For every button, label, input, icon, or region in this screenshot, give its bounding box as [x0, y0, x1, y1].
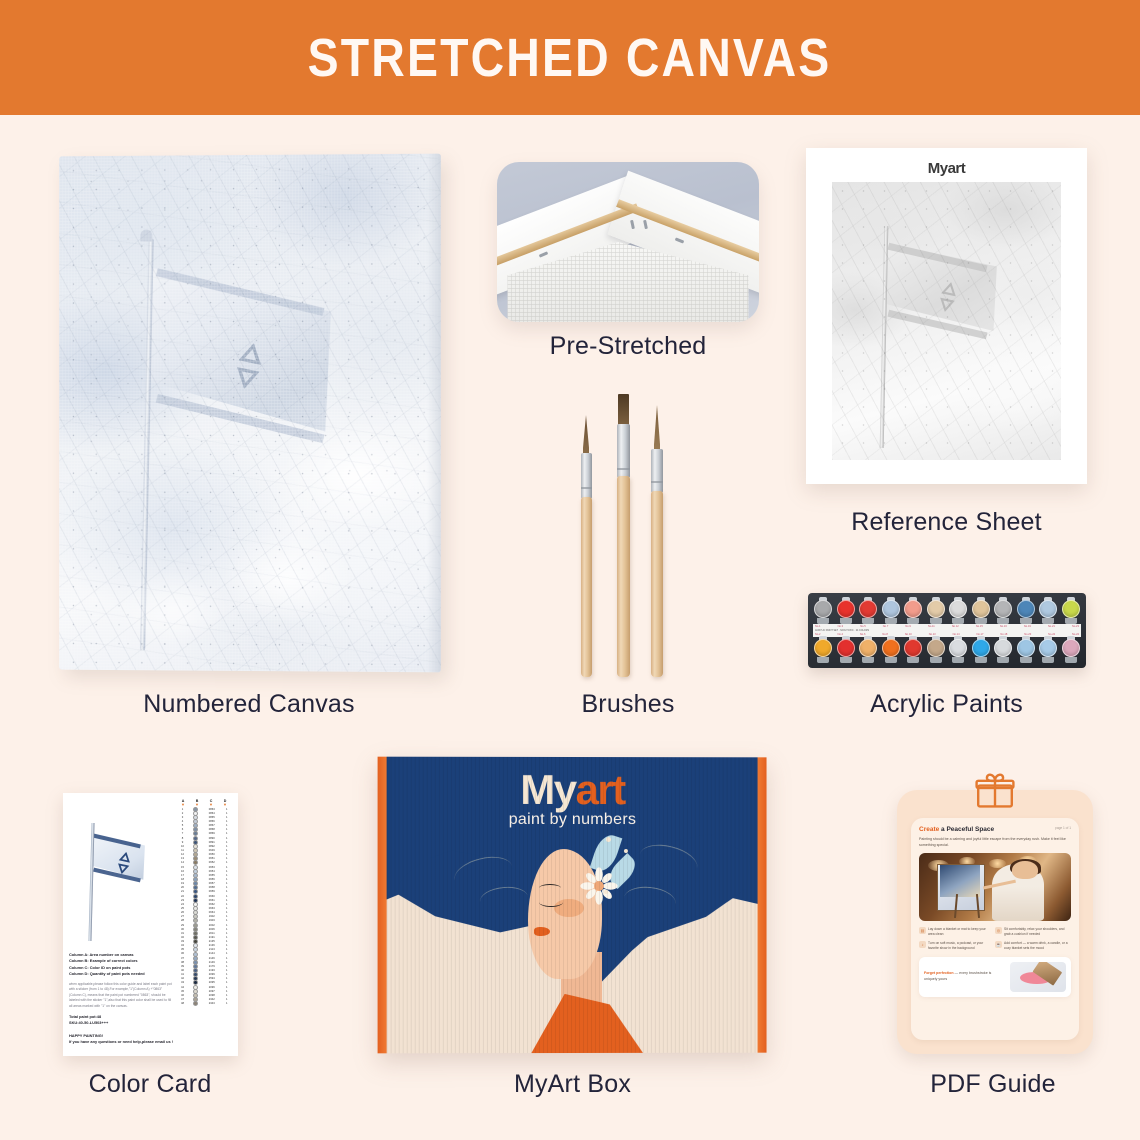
cell-quantity: 1 [222, 895, 232, 898]
cell-area-number: 27 [176, 915, 189, 918]
color-table-row: 4723421 [176, 997, 232, 1001]
paint-pot-lid [859, 600, 877, 618]
color-table-row: 2606641 [176, 911, 232, 915]
color-table-row: 3321351 [176, 940, 232, 944]
pre-stretched-image [497, 162, 759, 322]
brushes-image [573, 385, 685, 677]
cell-quantity: 1 [222, 961, 232, 964]
paint-row-top [813, 598, 1081, 624]
cell-area-number: 8 [176, 837, 189, 840]
cell-quantity: 1 [222, 998, 232, 1001]
paint-pot-lid [1039, 600, 1057, 618]
cell-color-id: 2136 [202, 944, 222, 947]
color-table-row: 4320951 [176, 981, 232, 985]
paint-pot [971, 637, 991, 663]
paint-pot [813, 637, 833, 663]
color-card-note: when applicable,please follow this color… [69, 982, 173, 1010]
color-table-row: 3221911 [176, 935, 232, 939]
page-title: STRETCHED CANVAS [308, 27, 832, 89]
cell-color-id: 2135 [202, 940, 222, 943]
cell-color-id: 0659 [202, 890, 222, 893]
cell-quantity: 1 [222, 944, 232, 947]
paint-pot [1038, 637, 1058, 663]
cell-quantity: 1 [222, 857, 232, 860]
cell-quantity: 1 [222, 832, 232, 835]
cell-color-id: 2179 [202, 965, 222, 968]
cell-quantity: 1 [222, 965, 232, 968]
label-pdf-guide: PDF Guide [893, 1070, 1093, 1099]
paint-pot-lid [837, 600, 855, 618]
cell-color-id: 0864 [202, 812, 222, 815]
cell-color-id: 2113 [202, 948, 222, 951]
cell-quantity: 1 [222, 861, 232, 864]
paint-pot [858, 637, 878, 663]
box-front-panel: Myart paint by numbers [387, 757, 758, 1054]
cell-area-number: 37 [176, 957, 189, 960]
pdf-guide-title: page 1 of 1 Create a Peaceful Space [919, 826, 1071, 833]
paint-pot-base [907, 657, 919, 663]
cc-flag-pole [88, 823, 94, 941]
paint-pot-lid [972, 600, 990, 618]
cell-color-id: 0866 [202, 820, 222, 823]
cell-quantity: 1 [222, 882, 232, 885]
cell-quantity: 1 [222, 828, 232, 831]
pdf-guide-callout: Forget perfection — every brushstroke is… [919, 957, 1071, 997]
cell-area-number: 43 [176, 981, 189, 984]
brush-bristles [618, 394, 629, 426]
cell-area-number: 45 [176, 990, 189, 993]
cell-quantity: 1 [222, 878, 232, 881]
cell-area-number: 5 [176, 824, 189, 827]
cell-color-id: 0660 [202, 895, 222, 898]
cell-color-id: 2343 [202, 1002, 222, 1005]
legend-column-d: Column D: Quantity of paint pots needed [69, 971, 145, 976]
color-table-row: 1706551 [176, 873, 232, 877]
cell-color-id: 2097 [202, 990, 222, 993]
label-brushes: Brushes [497, 690, 759, 719]
color-table-row: 708691 [176, 832, 232, 836]
brush-ferrule [651, 449, 663, 493]
cell-area-number: 10 [176, 845, 189, 848]
cell-quantity: 1 [222, 1002, 232, 1005]
reference-sheet-artwork [832, 182, 1061, 460]
paint-pot [881, 637, 901, 663]
cell-quantity: 1 [222, 816, 232, 819]
cell-quantity: 1 [222, 890, 232, 893]
pdf-guide-photo [919, 853, 1071, 921]
cell-quantity: 1 [222, 948, 232, 951]
color-table-row: 808901 [176, 836, 232, 840]
pdf-guide-image: page 1 of 1 Create a Peaceful Space Pain… [897, 790, 1093, 1054]
box-left-edge [378, 757, 387, 1054]
color-table-row: 2920021 [176, 923, 232, 927]
paint-pot-base [885, 657, 897, 663]
color-table-row: 608681 [176, 828, 232, 832]
cell-color-id: 0655 [202, 874, 222, 877]
color-table-row: 1306511 [176, 857, 232, 861]
pdf-title-accent: Create [919, 826, 939, 833]
brush-handle [581, 497, 592, 677]
cell-quantity: 1 [222, 824, 232, 827]
arrow-down-icon: ▼ [218, 803, 232, 807]
paint-pot-lid [949, 639, 967, 657]
cell-area-number: 9 [176, 841, 189, 844]
cell-quantity: 1 [222, 899, 232, 902]
cell-color-id: 0651 [202, 857, 222, 860]
paint-pot-lid [1017, 639, 1035, 657]
contact-text: If you have any questions or need help,p… [69, 1039, 173, 1044]
paint-pot [836, 598, 856, 624]
cell-quantity: 1 [222, 936, 232, 939]
pdf-tip-item: ☕Add comfort — a warm drink, a candle, o… [995, 941, 1071, 951]
cell-area-number: 15 [176, 866, 189, 869]
color-table-row: 4120991 [176, 973, 232, 977]
color-table-row: 3421361 [176, 944, 232, 948]
cell-color-id: 1903 [202, 919, 222, 922]
ref-numeral-layer [832, 182, 1061, 460]
cell-area-number: 16 [176, 870, 189, 873]
brush-ferrule-ring [617, 468, 630, 470]
cell-area-number: 24 [176, 903, 189, 906]
brush-flat [617, 394, 630, 677]
color-table-row: 1406521 [176, 861, 232, 865]
cell-quantity: 1 [222, 919, 232, 922]
cell-color-id: 2146 [202, 957, 222, 960]
cell-color-id: 0663 [202, 907, 222, 910]
cell-area-number: 28 [176, 919, 189, 922]
cell-color-id: 0868 [202, 828, 222, 831]
cell-color-id: 2095 [202, 981, 222, 984]
color-table-row: 4620981 [176, 993, 232, 997]
paint-pot-base [1042, 657, 1054, 663]
color-table-row: 1606541 [176, 869, 232, 873]
callout-image [1010, 962, 1066, 992]
paint-pot-base [997, 657, 1009, 663]
color-table-row: 508671 [176, 824, 232, 828]
cell-quantity: 1 [222, 808, 232, 811]
paint-pot-lid [859, 639, 877, 657]
cell-quantity: 1 [222, 845, 232, 848]
total-paint-pots: Total paint pot:48 [69, 1014, 101, 1019]
cell-color-id: 2149 [202, 961, 222, 964]
cell-quantity: 1 [222, 907, 232, 910]
paint-pot-lid [1062, 600, 1080, 618]
cell-area-number: 42 [176, 977, 189, 980]
brush-handle [617, 476, 630, 677]
color-table-row: 4420961 [176, 985, 232, 989]
color-table-row: 2306611 [176, 898, 232, 902]
paint-pot-lid [927, 639, 945, 657]
pdf-tip-item: ◎Sit comfortably, relax your shoulders, … [995, 927, 1071, 937]
cell-color-id: 2098 [202, 994, 222, 997]
photo-person-head [1012, 861, 1038, 879]
label-reference-sheet: Reference Sheet [806, 508, 1087, 537]
paint-pot [948, 598, 968, 624]
paint-pot-lid [994, 639, 1012, 657]
cell-area-number: 33 [176, 940, 189, 943]
cell-color-id: 0656 [202, 878, 222, 881]
brush-ferrule [581, 453, 592, 499]
cell-color-id: 0649 [202, 849, 222, 852]
paint-pot-lid [949, 600, 967, 618]
paint-row-bottom [813, 637, 1081, 663]
paint-pot [1061, 637, 1081, 663]
box-cardboard-texture [387, 757, 758, 1054]
color-table-row: 2206601 [176, 894, 232, 898]
cell-area-number: 32 [176, 936, 189, 939]
paint-pot-lid [904, 600, 922, 618]
cell-color-id: 2342 [202, 998, 222, 1001]
cell-area-number: 21 [176, 890, 189, 893]
paint-pot [926, 637, 946, 663]
color-table-row: 108631 [176, 807, 232, 811]
cell-color-id: 0891 [202, 841, 222, 844]
paint-pot-base [952, 657, 964, 663]
cell-quantity: 1 [222, 820, 232, 823]
canvas-body [59, 154, 441, 673]
color-table-row: 2819031 [176, 919, 232, 923]
paint-pot-base [862, 657, 874, 663]
paint-pot-lid [972, 639, 990, 657]
cell-color-id: 0653 [202, 866, 222, 869]
color-table-row: 3621441 [176, 952, 232, 956]
cell-area-number: 18 [176, 878, 189, 881]
pdf-page-number: page 1 of 1 [1055, 826, 1071, 830]
cell-area-number: 4 [176, 820, 189, 823]
cell-quantity: 1 [222, 986, 232, 989]
cell-color-id: 0652 [202, 861, 222, 864]
cell-color-id: 2144 [202, 952, 222, 955]
label-acrylic-paints: Acrylic Paints [806, 690, 1087, 719]
legend-column-b: Column B: Example of correct colors [69, 958, 138, 963]
color-table-row: 4520971 [176, 989, 232, 993]
brush-round-thin [581, 415, 592, 677]
paint-pot-base [975, 657, 987, 663]
cell-area-number: 23 [176, 899, 189, 902]
cell-color-id: 2099 [202, 973, 222, 976]
cell-quantity: 1 [222, 837, 232, 840]
cell-color-id: 0664 [202, 911, 222, 914]
cell-quantity: 1 [222, 812, 232, 815]
label-numbered-canvas: Numbered Canvas [58, 690, 440, 719]
paint-pot-lid [882, 639, 900, 657]
color-table-row: 3921791 [176, 964, 232, 968]
color-table-row: 1008921 [176, 844, 232, 848]
happy-painting-text: HAPPY PAINTING! [69, 1033, 103, 1038]
cell-color-id: 0892 [202, 845, 222, 848]
cell-area-number: 11 [176, 849, 189, 852]
paint-pot [903, 637, 923, 663]
cell-area-number: 17 [176, 874, 189, 877]
paint-pot [1016, 637, 1036, 663]
pdf-tip-icon: ◎ [995, 927, 1002, 934]
brush-round-fine [651, 405, 663, 677]
color-table-row: 3020061 [176, 927, 232, 931]
pdf-title-rest: a Peaceful Space [939, 826, 994, 833]
paint-pot-lid [994, 600, 1012, 618]
paint-pot [1061, 598, 1081, 624]
color-table-row: 2719021 [176, 915, 232, 919]
cell-quantity: 1 [222, 915, 232, 918]
cell-color-id: 0657 [202, 882, 222, 885]
cell-quantity: 1 [222, 952, 232, 955]
paint-pot [903, 598, 923, 624]
cell-quantity: 1 [222, 977, 232, 980]
paint-pot [1016, 598, 1036, 624]
cell-color-id: 2193 [202, 969, 222, 972]
cell-quantity: 1 [222, 924, 232, 927]
color-table-row: 908911 [176, 840, 232, 844]
cell-area-number: 30 [176, 928, 189, 931]
page-header: STRETCHED CANVAS [0, 0, 1140, 115]
pdf-tip-text: Lay down a blanket or mat to keep your a… [928, 927, 992, 937]
acrylic-paints-image: No.1No.3No.5No.7No.9No.11No.12No.15No.16… [808, 593, 1086, 668]
paint-pot-base [840, 657, 852, 663]
infographic-page: STRETCHED CANVAS Numbered Canvas [0, 0, 1140, 1140]
myart-box-image: Myart paint by numbers [378, 757, 767, 1054]
cell-quantity: 1 [222, 870, 232, 873]
cell-quantity: 1 [222, 928, 232, 931]
pdf-guide-body: Painting should be a calming and joyful … [919, 836, 1071, 848]
cell-color-id: 0869 [202, 832, 222, 835]
cell-area-number: 22 [176, 895, 189, 898]
pdf-tip-item: ♪Turn on soft music, a podcast, or your … [919, 941, 995, 951]
cell-quantity: 1 [222, 932, 232, 935]
cell-color-swatch [189, 1001, 202, 1006]
reference-sheet-image: Myart [806, 148, 1087, 484]
cell-area-number: 38 [176, 961, 189, 964]
cell-quantity: 1 [222, 911, 232, 914]
cc-star-of-david-icon [111, 850, 137, 876]
cell-quantity: 1 [222, 841, 232, 844]
color-table-row: 2106591 [176, 890, 232, 894]
cell-quantity: 1 [222, 990, 232, 993]
photo-easel-artwork [940, 865, 980, 896]
paint-pot-lid [882, 600, 900, 618]
paint-pot [836, 637, 856, 663]
cell-area-number: 14 [176, 861, 189, 864]
paint-label-strip: No.1No.3No.5No.7No.9No.11No.12No.15No.16… [813, 624, 1081, 637]
cell-color-id: 0654 [202, 870, 222, 873]
cell-quantity: 1 [222, 957, 232, 960]
paint-strip-bottom-labels: No.2No.4No.6No.8No.10No.13No.14No.17No.1… [815, 633, 1079, 637]
callout-accent: Forget perfection [924, 971, 954, 975]
paint-pot-base [1020, 657, 1032, 663]
paint-pot [881, 598, 901, 624]
color-table-row: 3821491 [176, 960, 232, 964]
cell-quantity: 1 [222, 886, 232, 889]
color-table-row: 408661 [176, 819, 232, 823]
cell-area-number: 25 [176, 907, 189, 910]
cell-area-number: 40 [176, 969, 189, 972]
pdf-tip-text: Add comfort — a warm drink, a candle, or… [1004, 941, 1068, 951]
cell-quantity: 1 [222, 994, 232, 997]
pdf-tip-icon: ▤ [919, 927, 926, 934]
paint-pot-lid [814, 639, 832, 657]
cell-area-number: 34 [176, 944, 189, 947]
color-table-row: 4021931 [176, 968, 232, 972]
pdf-tip-icon: ☕ [995, 941, 1002, 948]
arrow-down-icon: ▼ [204, 803, 218, 807]
cell-area-number: 46 [176, 994, 189, 997]
cell-color-id: 1902 [202, 915, 222, 918]
color-card-left-column: Column A: Area number on canvas Column B… [69, 799, 173, 1050]
label-myart-box: MyArt Box [378, 1070, 767, 1099]
paint-pot [926, 598, 946, 624]
brush-handle [651, 491, 663, 677]
color-card-table: A B C D ▼ ▼ ▼ ▼ 108631208641308651408661… [173, 799, 232, 1050]
paint-pot-lid [837, 639, 855, 657]
arrow-down-icon: ▼ [176, 803, 190, 807]
cell-color-id: 2191 [202, 936, 222, 939]
paint-pot [993, 598, 1013, 624]
cell-area-number: 35 [176, 948, 189, 951]
callout-text: Forget perfection — every brushstroke is… [924, 971, 1005, 982]
color-table-row: 3120111 [176, 931, 232, 935]
gift-icon [975, 772, 1015, 808]
legend-column-c: Column C: Color ID on paint pots [69, 965, 130, 970]
paint-pot-base [1065, 657, 1077, 663]
cell-color-id: 2594 [202, 977, 222, 980]
paint-pot-base [930, 657, 942, 663]
cell-quantity: 1 [222, 940, 232, 943]
cell-quantity: 1 [222, 973, 232, 976]
cell-area-number: 3 [176, 816, 189, 819]
paint-pot [948, 637, 968, 663]
cell-color-id: 0650 [202, 853, 222, 856]
cell-color-id: 2002 [202, 924, 222, 927]
cell-quantity: 1 [222, 969, 232, 972]
color-card-instructions: Column A: Area number on canvas Column B… [69, 947, 173, 1046]
cell-area-number: 7 [176, 832, 189, 835]
color-table-row: 1206501 [176, 853, 232, 857]
cell-area-number: 41 [176, 973, 189, 976]
cell-area-number: 44 [176, 986, 189, 989]
cell-area-number: 20 [176, 886, 189, 889]
cell-quantity: 1 [222, 903, 232, 906]
color-table-row: 2006581 [176, 886, 232, 890]
paint-pot [858, 598, 878, 624]
cell-area-number: 2 [176, 812, 189, 815]
paint-pot-lid [1062, 639, 1080, 657]
color-table-row: 1806561 [176, 877, 232, 881]
color-table-arrows: ▼ ▼ ▼ ▼ [176, 803, 232, 807]
color-table-row: 2406621 [176, 902, 232, 906]
reference-sheet-logo: Myart [806, 160, 1087, 177]
cell-color-id: 0865 [202, 816, 222, 819]
cell-color-id: 0662 [202, 903, 222, 906]
pdf-tip-item: ▤Lay down a blanket or mat to keep your … [919, 927, 995, 937]
brush-bristles [583, 415, 589, 455]
color-card-image: Column A: Area number on canvas Column B… [63, 793, 238, 1056]
cell-quantity: 1 [222, 849, 232, 852]
cell-area-number: 13 [176, 857, 189, 860]
cell-area-number: 29 [176, 924, 189, 927]
label-pre-stretched: Pre-Stretched [497, 332, 759, 361]
pdf-tip-text: Sit comfortably, relax your shoulders, a… [1004, 927, 1068, 937]
paint-pot-lid [1017, 600, 1035, 618]
paint-pot [993, 637, 1013, 663]
color-card-artwork [69, 799, 173, 947]
paint-pot-lid [1039, 639, 1057, 657]
cell-area-number: 36 [176, 952, 189, 955]
cell-area-number: 47 [176, 998, 189, 1001]
brush-ferrule-ring [651, 481, 663, 483]
cell-color-id: 0658 [202, 886, 222, 889]
cell-color-id: 0661 [202, 899, 222, 902]
color-table-row: 1106491 [176, 848, 232, 852]
brush-ferrule-ring [581, 487, 592, 489]
